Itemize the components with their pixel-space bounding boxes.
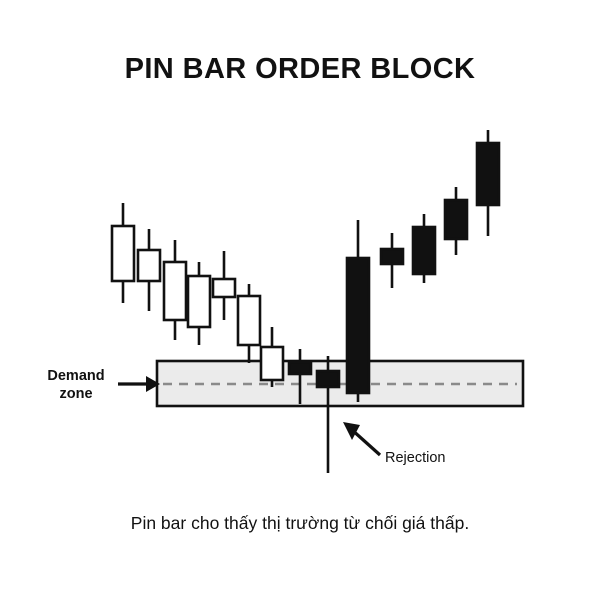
demand-zone-label-line2: zone — [59, 386, 92, 402]
candle-body — [164, 262, 186, 320]
candle-body — [138, 250, 160, 281]
candle-body — [477, 143, 499, 205]
candle-body — [261, 347, 283, 380]
candle-body — [289, 362, 311, 374]
candlestick-chart — [0, 0, 600, 600]
candle-body — [213, 279, 235, 297]
candle-body — [413, 227, 435, 274]
demand-zone-arrow — [118, 376, 160, 392]
rejection-arrow — [343, 422, 380, 455]
demand-zone-label: Demand zone — [28, 367, 124, 403]
candle — [112, 203, 134, 303]
candle — [477, 130, 499, 236]
candle — [138, 229, 160, 311]
candle — [381, 233, 403, 288]
candle-body — [317, 371, 339, 387]
candle-series — [112, 130, 499, 473]
candle — [261, 327, 283, 387]
candle — [347, 220, 369, 402]
candle-body — [381, 249, 403, 264]
candle — [445, 187, 467, 255]
demand-zone-label-line1: Demand — [47, 368, 104, 384]
candle — [188, 262, 210, 345]
candle-body — [445, 200, 467, 239]
pin-bar-candle — [317, 356, 339, 473]
candle-body — [112, 226, 134, 281]
candle-body — [347, 258, 369, 393]
candle-body — [188, 276, 210, 327]
page-caption: Pin bar cho thấy thị trường từ chối giá … — [0, 513, 600, 534]
infographic-canvas: PIN BAR ORDER BLOCK Demand zone Rejectio… — [0, 0, 600, 600]
candle — [164, 240, 186, 340]
candle — [238, 284, 260, 363]
candle — [213, 251, 235, 320]
candle — [413, 214, 435, 283]
rejection-label: Rejection — [385, 450, 445, 467]
candle-body — [238, 296, 260, 345]
